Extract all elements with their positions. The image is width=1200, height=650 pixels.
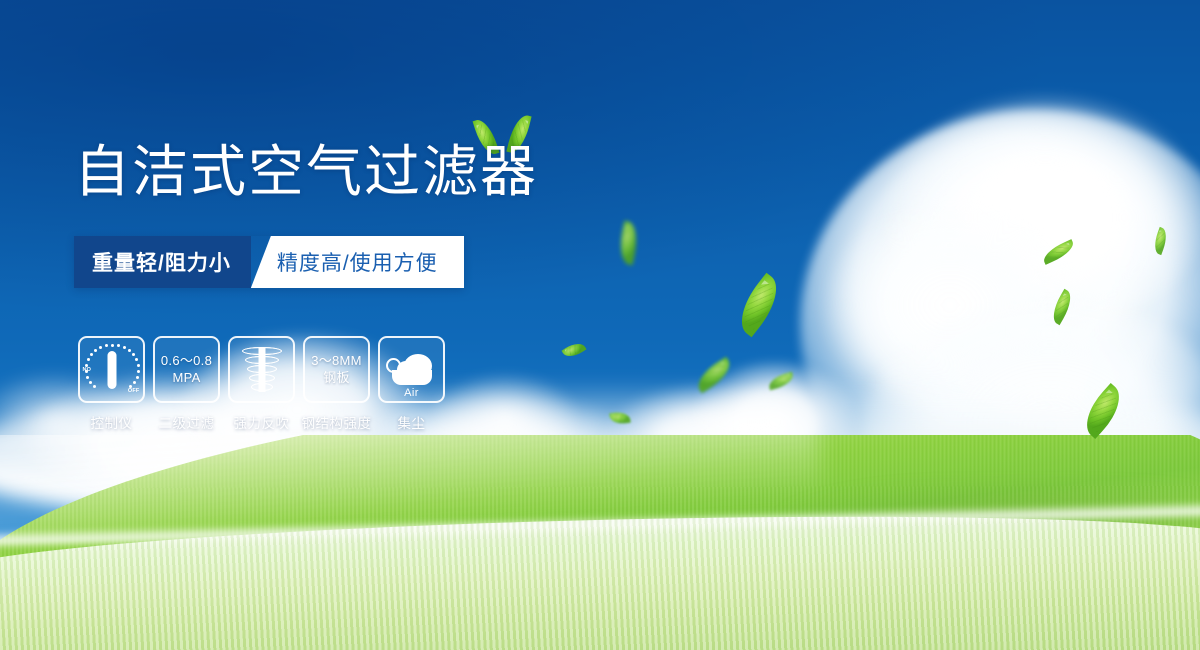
leaf-vein	[612, 412, 628, 423]
feature-icon-box	[228, 336, 295, 403]
gauge-label-off: OFF	[128, 388, 140, 394]
feature-icon-box: 3～8MM 钢板	[303, 336, 370, 403]
gauge-label-on: NO	[83, 367, 92, 373]
gauge-dial-icon: NO OFF	[83, 342, 141, 398]
steel-line-1: 3～8MM	[311, 353, 362, 369]
feature-item-two-stage-filter[interactable]: 0.6～0.8 MPA 二级过滤	[149, 336, 224, 432]
feature-label: 集尘	[398, 412, 426, 432]
feature-label: 钢结构强度	[302, 412, 372, 432]
grass-field	[0, 435, 1200, 650]
feature-label: 控制仪	[91, 412, 133, 432]
air-cloud-icon: Air	[384, 344, 440, 396]
cloud-swirl-icon	[386, 358, 401, 373]
spring-filter-icon	[239, 345, 285, 395]
feature-label: 二级过滤	[159, 412, 215, 432]
steel-line-2: 钢板	[311, 370, 362, 386]
feature-item-controller[interactable]: NO OFF 控制仪	[74, 336, 149, 432]
feature-item-steel-strength[interactable]: 3～8MM 钢板 钢结构强度	[299, 336, 374, 432]
feature-item-dust-collection[interactable]: Air 集尘	[374, 336, 449, 432]
page-title: 自洁式空气过滤器	[74, 145, 538, 201]
subtitle-bar: 重量轻/阻力小 精度高/使用方便	[74, 236, 464, 288]
pressure-text-icon: 0.6～0.8 MPA	[161, 353, 212, 386]
subtitle-chip-secondary: 精度高/使用方便	[251, 236, 464, 288]
gauge-needle	[107, 351, 116, 389]
feature-label: 强力反吹	[234, 412, 290, 432]
pressure-line-1: 0.6～0.8	[161, 353, 212, 369]
air-label: Air	[384, 387, 440, 399]
feature-item-strong-blowback[interactable]: 强力反吹	[224, 336, 299, 432]
steel-plate-text-icon: 3～8MM 钢板	[311, 353, 362, 386]
pressure-line-2: MPA	[161, 370, 212, 386]
feature-list: NO OFF 控制仪 0.6～0.8 MPA 二级过滤	[74, 336, 449, 432]
feature-icon-box: 0.6～0.8 MPA	[153, 336, 220, 403]
feature-icon-box: Air	[378, 336, 445, 403]
feature-icon-box: NO OFF	[78, 336, 145, 403]
product-banner: 自洁式空气过滤器 重量轻/阻力小 精度高/使用方便	[0, 0, 1200, 650]
subtitle-chip-primary: 重量轻/阻力小	[74, 236, 251, 288]
